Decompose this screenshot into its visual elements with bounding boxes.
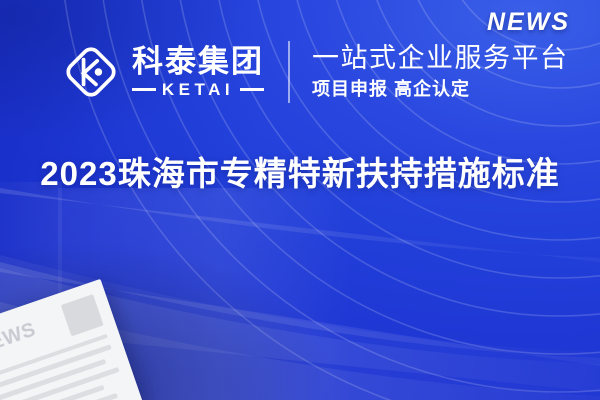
wordmark-dash-right (240, 88, 264, 91)
banner-header: 科泰集团 KETAI 一站式企业服务平台 项目申报 高企认定 (60, 33, 569, 111)
newspaper-masthead: NEWS (0, 316, 38, 359)
wordmark-dash-left (132, 88, 156, 91)
brand-name-cn: 科泰集团 (132, 46, 264, 78)
page-title: 2023珠海市专精特新扶持措施标准 (0, 155, 600, 194)
newspaper-line (0, 367, 120, 400)
slogan-block: 一站式企业服务平台 项目申报 高企认定 (312, 43, 569, 101)
slogan-main: 一站式企业服务平台 (312, 43, 569, 73)
newspaper-sheet: NEWS (0, 279, 143, 400)
header-divider (288, 41, 290, 103)
ketai-kt-monogram-icon (60, 41, 122, 103)
brand-name-en: KETAI (162, 81, 234, 98)
news-badge: NEWS (487, 8, 570, 37)
slogan-sub: 项目申报 高企认定 (312, 79, 569, 101)
brand-wordmark: 科泰集团 KETAI (132, 46, 264, 98)
brand-name-en-row: KETAI (132, 81, 264, 98)
news-banner: 科泰集团 KETAI 一站式企业服务平台 项目申报 高企认定 NEWS 2023… (0, 0, 600, 400)
newspaper-thumbnail-icon (61, 294, 104, 336)
newspaper-illustration: NEWS (0, 279, 143, 400)
